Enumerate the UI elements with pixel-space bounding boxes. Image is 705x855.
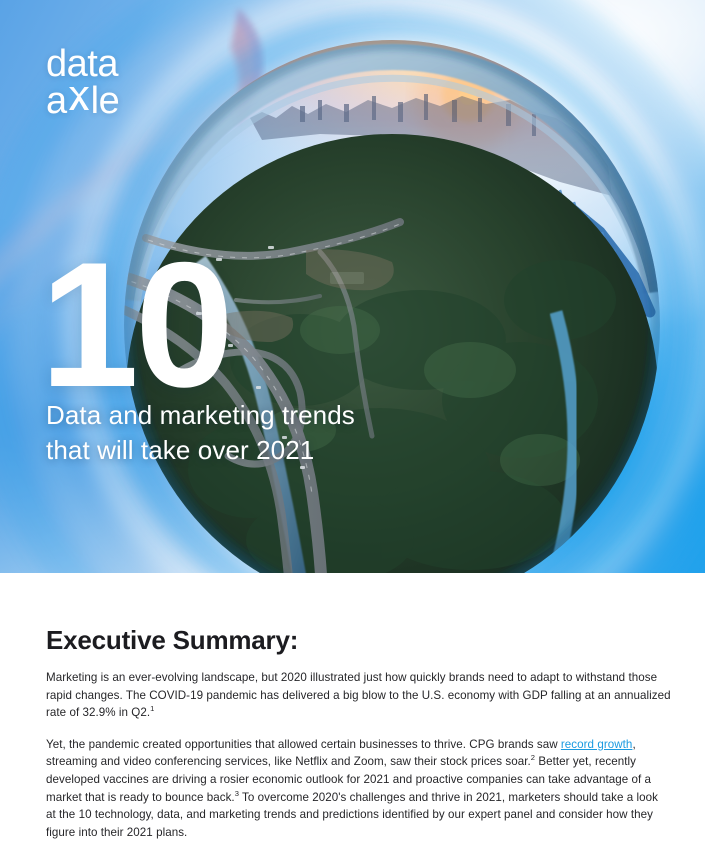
paragraph-1: Marketing is an ever-evolving landscape,… bbox=[46, 669, 671, 722]
executive-summary-section: Executive Summary: Marketing is an ever-… bbox=[0, 573, 705, 855]
page-title: Executive Summary: bbox=[46, 625, 671, 656]
footnote-marker-1: 1 bbox=[150, 704, 154, 713]
hero-banner: data a le 10 Data and marketing trends t… bbox=[0, 0, 705, 573]
paragraph-2: Yet, the pandemic created opportunities … bbox=[46, 736, 671, 842]
hero-number: 10 bbox=[40, 236, 230, 414]
brand-logo-line2: a le bbox=[46, 83, 226, 120]
paragraph-2-text-a: Yet, the pandemic created opportunities … bbox=[46, 738, 561, 751]
hero-subtitle-line1: Data and marketing trends bbox=[46, 398, 466, 433]
hero-subtitle: Data and marketing trends that will take… bbox=[46, 398, 466, 467]
brand-logo: data a le bbox=[46, 46, 226, 120]
brand-logo-line1: data bbox=[46, 46, 226, 83]
brand-logo-a: a bbox=[46, 83, 67, 120]
record-growth-link[interactable]: record growth bbox=[561, 738, 633, 751]
brand-logo-x-icon bbox=[68, 86, 90, 113]
hero-subtitle-line2: that will take over 2021 bbox=[46, 433, 466, 468]
brand-logo-le: le bbox=[91, 83, 120, 120]
paragraph-1-text: Marketing is an ever-evolving landscape,… bbox=[46, 671, 671, 719]
document-page: data a le 10 Data and marketing trends t… bbox=[0, 0, 705, 834]
